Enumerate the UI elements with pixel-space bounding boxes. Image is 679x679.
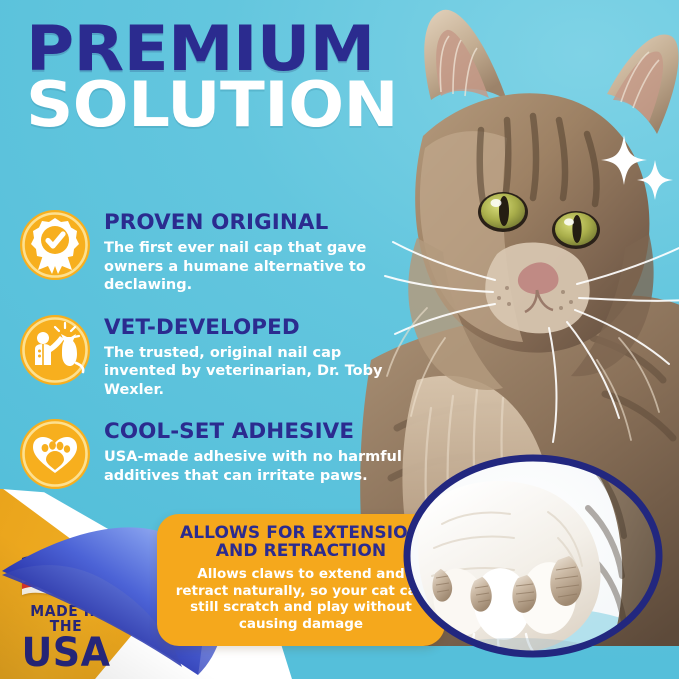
callout-body: Allows claws to extend and retract natur… [171,566,431,632]
product-feature-poster: MADE IN THE USA [0,0,679,679]
headline-line-solution: SOLUTION [26,78,398,131]
callout-title: ALLOWS FOR EXTENSION AND RETRACTION [171,525,431,560]
feature-body: The trusted, original nail cap invented … [104,344,408,400]
usa-flag-icon [20,548,112,600]
award-ribbon-check-icon [18,208,92,282]
made-in-usa-line2: USA [11,635,121,673]
feature-title: VET-DEVELOPED [104,317,414,338]
made-in-usa-badge: MADE IN THE USA [8,548,124,673]
feature-item-vet-developed: VET-DEVELOPED The trusted, original nail… [18,311,408,400]
page-title: PREMIUM SOLUTION [26,22,377,132]
vet-high-five-cat-icon [18,313,92,387]
feature-item-cool-set-adhesive: COOL-SET ADHESIVE USA-made adhesive with… [18,415,408,491]
feature-title: PROVEN ORIGINAL [104,212,414,233]
headline-line-premium: PREMIUM [26,22,398,75]
paw-closeup-inset [398,452,668,667]
feature-body: USA-made adhesive with no harmful additi… [104,448,408,485]
feature-item-proven-original: PROVEN ORIGINAL The first ever nail cap … [18,206,408,295]
feature-title: COOL-SET ADHESIVE [104,421,414,442]
heart-paw-icon [18,417,92,491]
feature-list: PROVEN ORIGINAL The first ever nail cap … [18,206,408,507]
feature-body: The first ever nail cap that gave owners… [104,239,408,295]
